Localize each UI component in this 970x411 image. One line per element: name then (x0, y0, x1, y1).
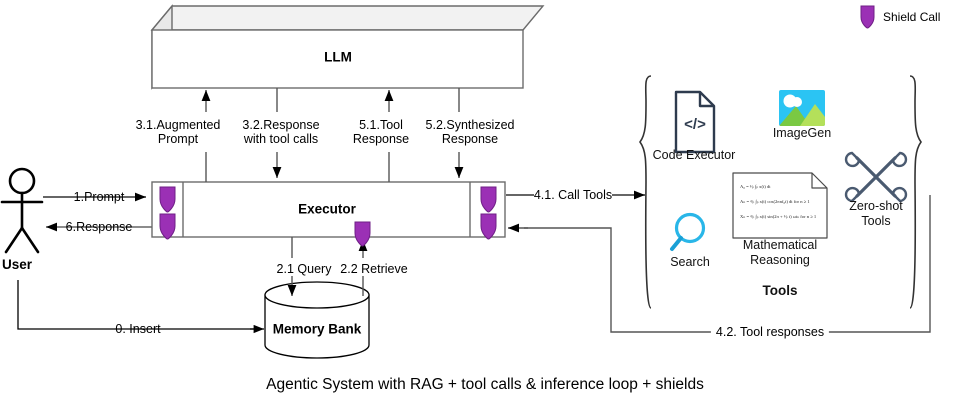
diagram-caption: Agentic System with RAG + tool calls & i… (266, 376, 704, 394)
shield-call-legend-icon (861, 6, 874, 28)
llm-label: LLM (324, 50, 352, 65)
code-document-icon[interactable]: </> (676, 92, 714, 152)
flow-3-1-line2: Prompt (136, 132, 221, 146)
math-formula-line-1: A₀ = ¹⁄ₚ ∫ₚ x(t) dt (740, 184, 771, 190)
tools-group-brace-right (910, 76, 921, 308)
math-formula-line-3: Xₙ = ²⁄ₚ ∫ₚ x(t) sin(2π + ¹⁄ₚ t) ωtₙ for… (740, 214, 816, 220)
svg-text:</>: </> (684, 116, 706, 133)
executor-label: Executor (298, 202, 356, 217)
flow-5-1-line2: Response (353, 132, 409, 146)
image-photo-icon[interactable] (779, 90, 832, 126)
user-label: User (2, 258, 32, 272)
tool-label-math-reasoning: Mathematical Reasoning (743, 238, 817, 268)
tools-group-brace-left (640, 76, 651, 308)
flow-1-prompt-label: 1.Prompt (74, 190, 125, 204)
magnifier-icon[interactable] (672, 215, 704, 250)
diagram-canvas: </> (0, 0, 970, 411)
flow-5-1-line1: 5.1.Tool (353, 118, 409, 132)
formula-document-icon[interactable] (733, 173, 827, 238)
tool-label-zero-shot-tools: Zero-shot Tools (849, 199, 903, 229)
flow-5-2-line2: Response (426, 132, 515, 146)
flow-5-1-tool-response-label: 5.1.Tool Response (353, 118, 409, 146)
tool-label-zero-shot-line2: Tools (849, 214, 903, 229)
tool-label-imagegen: ImageGen (773, 126, 831, 141)
shield-call-legend-label: Shield Call (883, 10, 940, 24)
flow-3-1-line1: 3.1.Augmented (136, 118, 221, 132)
flow-5-2-synthesized-response-label: 5.2.Synthesized Response (426, 118, 515, 146)
crossed-wrenches-icon[interactable] (846, 153, 906, 201)
tool-label-code-executor: Code Executor (653, 148, 736, 163)
memory-bank-label: Memory Bank (273, 322, 362, 337)
shield-icon-executor-memory (355, 222, 370, 246)
tool-label-search: Search (670, 255, 710, 270)
tool-label-math-line1: Mathematical (743, 238, 817, 253)
flow-6-response-label: 6.Response (66, 220, 133, 234)
tool-label-zero-shot-line1: Zero-shot (849, 199, 903, 214)
math-formula-line-2: Aₙ = ²⁄ₚ ∫ₚ x(t) cos(2πnf₀t) dt for n ≥ … (740, 199, 810, 205)
flow-2-2-retrieve-label: 2.2 Retrieve (340, 262, 407, 276)
memory-bank-node[interactable] (265, 282, 369, 358)
flow-4-1-call-tools-label: 4.1. Call Tools (534, 188, 612, 202)
llm-node[interactable] (152, 6, 543, 88)
flow-3-2-line2: with tool calls (242, 132, 319, 146)
flow-3-2-line1: 3.2.Response (242, 118, 319, 132)
flow-3-1-augmented-prompt-label: 3.1.Augmented Prompt (136, 118, 221, 146)
user-actor[interactable] (2, 169, 42, 252)
flow-5-2-line1: 5.2.Synthesized (426, 118, 515, 132)
tools-group-label: Tools (763, 283, 798, 298)
flow-0-insert-label: 0. Insert (115, 322, 160, 336)
flow-3-2-response-tool-calls-label: 3.2.Response with tool calls (242, 118, 319, 146)
tool-label-math-line2: Reasoning (743, 253, 817, 268)
diagram-vector-layer: </> (0, 0, 970, 411)
flow-2-1-query-label: 2.1 Query (277, 262, 332, 276)
flow-4-2-tool-responses-label: 4.2. Tool responses (711, 325, 829, 339)
